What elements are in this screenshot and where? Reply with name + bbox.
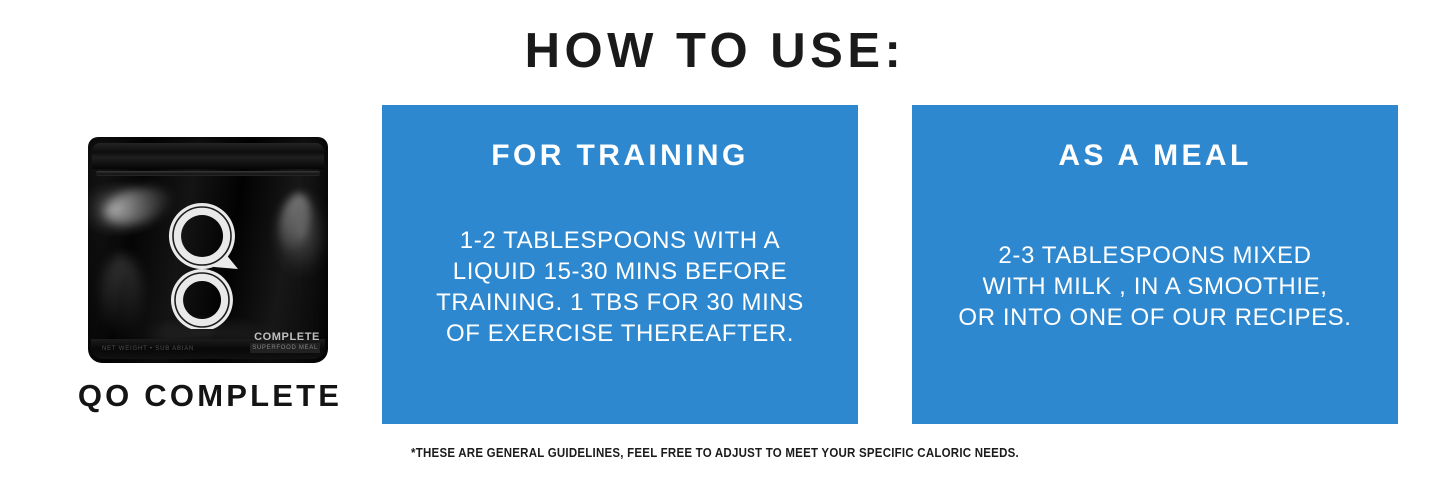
panel-as-a-meal: AS A MEAL 2-3 TABLESPOONS MIXED WITH MIL… [912,105,1398,424]
panel-body-as-a-meal: 2-3 TABLESPOONS MIXED WITH MILK , IN A S… [922,240,1388,333]
product-pouch-image: COMPLETE SUPERFOOD MEAL NET WEIGHT • SUB… [88,137,328,363]
pouch-complete-sub: SUPERFOOD MEAL [250,343,320,353]
product-column: COMPLETE SUPERFOOD MEAL NET WEIGHT • SUB… [40,130,380,420]
pouch-complete-main: COMPLETE [250,331,320,343]
panel-for-training: FOR TRAINING 1-2 TABLESPOONS WITH A LIQU… [382,105,858,424]
qo-logo [154,197,250,329]
how-to-use-infographic: HOW TO USE: COMPLETE SUPERFOO [0,0,1430,477]
pouch-complete-label: COMPLETE SUPERFOOD MEAL [250,331,320,353]
pouch-net-weight-text: NET WEIGHT • SUB ABIAN [102,346,194,352]
product-caption: QO COMPLETE [40,378,380,414]
page-title: HOW TO USE: [0,22,1430,80]
panel-heading-as-a-meal: AS A MEAL [912,138,1398,174]
pouch-top-seal [92,143,324,169]
panel-heading-for-training: FOR TRAINING [382,138,858,174]
pouch-highlight-lower-left [102,255,142,335]
pouch-zip-strip [96,171,320,176]
footnote-disclaimer: *THESE ARE GENERAL GUIDELINES, FEEL FREE… [57,446,1373,460]
panel-body-for-training: 1-2 TABLESPOONS WITH A LIQUID 15-30 MINS… [392,225,848,349]
